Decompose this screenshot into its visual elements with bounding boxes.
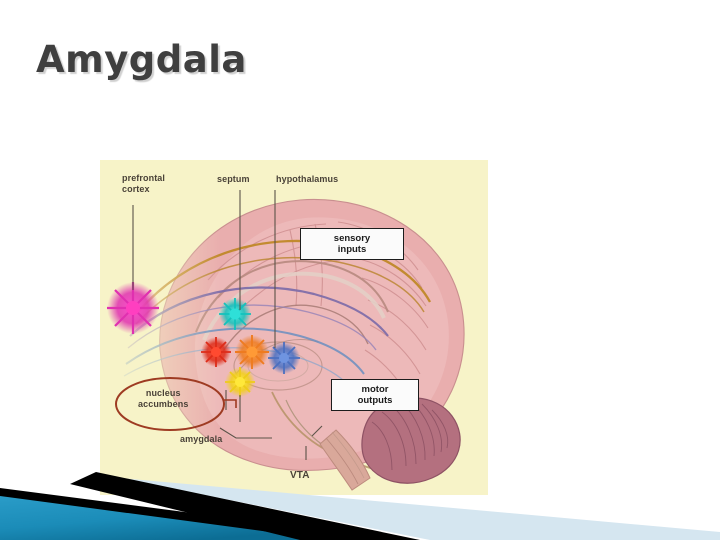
label-septum: septum bbox=[217, 174, 250, 185]
label-hypothalamus: hypothalamus bbox=[276, 174, 338, 185]
label-prefrontal-cortex: prefrontal cortex bbox=[122, 173, 165, 195]
sensory-inputs-box: sensory inputs bbox=[300, 228, 404, 260]
page-title: Amygdala bbox=[36, 38, 247, 81]
accumbens-node bbox=[201, 337, 231, 367]
septum-node bbox=[219, 298, 251, 330]
amygdala-node bbox=[268, 342, 300, 374]
brain-illustration bbox=[100, 160, 488, 495]
slide-decoration bbox=[0, 470, 720, 540]
brain-diagram-figure: prefrontal cortex septum hypothalamus nu… bbox=[100, 160, 488, 495]
motor-outputs-box: motor outputs bbox=[331, 379, 419, 411]
vta-node bbox=[225, 367, 255, 397]
hypothalamus-node bbox=[235, 335, 269, 369]
label-amygdala: amygdala bbox=[180, 434, 222, 445]
presentation-slide: Amygdala bbox=[0, 0, 720, 540]
label-nucleus-accumbens: nucleus accumbens bbox=[138, 388, 188, 410]
